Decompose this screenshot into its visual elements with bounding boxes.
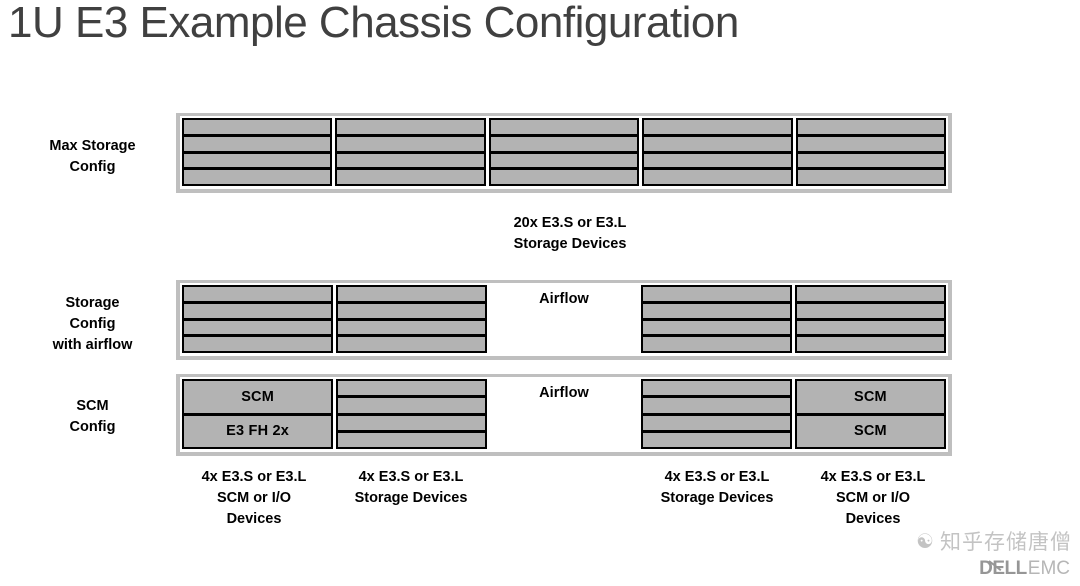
page-title: 1U E3 Example Chassis Configuration (8, 0, 739, 48)
device-slot[interactable] (798, 137, 944, 151)
caption-line1: 4x E3.S or E3.L (333, 467, 489, 488)
bay-group-1[interactable] (182, 285, 333, 353)
bottom-caption-3: 4x E3.S or E3.L Storage Devices (639, 467, 795, 509)
device-slot-scm[interactable]: SCM (797, 381, 944, 413)
caption-line3: Devices (176, 509, 332, 530)
device-slot[interactable] (338, 416, 485, 430)
bay-group-2[interactable] (336, 379, 487, 449)
device-slot[interactable] (184, 337, 331, 351)
device-slot[interactable] (798, 170, 944, 184)
device-slot[interactable] (338, 287, 485, 301)
device-slot[interactable] (337, 170, 483, 184)
device-slot[interactable] (643, 287, 790, 301)
row-label-storage-with-airflow: Storage Config with airflow (20, 293, 165, 356)
row-label-line2: Config (20, 157, 165, 178)
device-slot[interactable] (184, 170, 330, 184)
row-label-max-storage: Max Storage Config (20, 136, 165, 178)
bay-group-2[interactable] (335, 118, 485, 186)
device-slot[interactable] (644, 170, 790, 184)
chassis-inner: Airflow (180, 283, 948, 356)
device-slot[interactable] (643, 398, 790, 412)
device-slot[interactable] (797, 304, 944, 318)
bay-group-5[interactable] (795, 285, 946, 353)
device-slot[interactable] (798, 154, 944, 168)
device-slot[interactable] (184, 120, 330, 134)
caption-line1: 20x E3.S or E3.L (420, 213, 720, 234)
chassis-storage-with-airflow: Airflow (176, 280, 952, 360)
caption-line2: Storage Devices (333, 488, 489, 509)
chassis-inner (180, 116, 948, 189)
device-slot[interactable] (338, 433, 485, 447)
bottom-caption-4: 4x E3.S or E3.L SCM or I/O Devices (795, 467, 951, 530)
device-slot[interactable] (643, 337, 790, 351)
row-label-line2: Config (20, 314, 165, 335)
caption-line1: 4x E3.S or E3.L (639, 467, 795, 488)
device-slot[interactable] (491, 154, 637, 168)
caption-max-storage: 20x E3.S or E3.L Storage Devices (420, 213, 720, 255)
airflow-label: Airflow (539, 291, 589, 307)
device-slot[interactable] (337, 137, 483, 151)
row-label-line1: Max Storage (20, 136, 165, 157)
caption-line2: Storage Devices (639, 488, 795, 509)
row-label-line3: with airflow (20, 335, 165, 356)
airflow-region: Airflow (490, 379, 637, 449)
device-slot[interactable] (644, 154, 790, 168)
bay-group-4[interactable] (641, 379, 792, 449)
device-slot[interactable] (184, 321, 331, 335)
device-slot[interactable] (338, 321, 485, 335)
chassis-inner: SCM E3 FH 2x Airflow SCM SCM (180, 377, 948, 452)
bay-group-1[interactable] (182, 118, 332, 186)
chassis-max-storage (176, 113, 952, 193)
device-slot[interactable] (184, 137, 330, 151)
device-slot[interactable] (643, 381, 790, 395)
device-slot[interactable] (338, 398, 485, 412)
bottom-caption-1: 4x E3.S or E3.L SCM or I/O Devices (176, 467, 332, 530)
caption-line1: 4x E3.S or E3.L (176, 467, 332, 488)
dell-wordmark: DELL (979, 558, 1027, 580)
device-slot[interactable] (643, 416, 790, 430)
device-slot-e3-fh[interactable]: E3 FH 2x (184, 416, 331, 448)
row-label-line1: SCM (20, 396, 165, 417)
caption-line2: SCM or I/O (795, 488, 951, 509)
device-slot[interactable] (491, 120, 637, 134)
device-slot[interactable] (491, 137, 637, 151)
device-slot[interactable] (491, 170, 637, 184)
device-slot[interactable] (643, 321, 790, 335)
chassis-scm-config: SCM E3 FH 2x Airflow SCM SCM (176, 374, 952, 456)
device-slot[interactable] (184, 287, 331, 301)
bay-group-4[interactable] (641, 285, 792, 353)
device-slot-scm[interactable]: SCM (184, 381, 331, 413)
dell-text: DELL (979, 558, 1027, 579)
wechat-watermark: ☯ 知乎存储唐僧 (916, 526, 1072, 556)
device-slot[interactable] (797, 287, 944, 301)
device-slot[interactable] (337, 154, 483, 168)
device-slot[interactable] (798, 120, 944, 134)
bay-group-1[interactable]: SCM E3 FH 2x (182, 379, 333, 449)
device-slot[interactable] (643, 304, 790, 318)
bay-group-2[interactable] (336, 285, 487, 353)
caption-line2: Storage Devices (420, 234, 720, 255)
airflow-label: Airflow (539, 385, 589, 401)
device-slot[interactable] (643, 433, 790, 447)
bottom-caption-2: 4x E3.S or E3.L Storage Devices (333, 467, 489, 509)
device-slot[interactable] (644, 120, 790, 134)
device-slot[interactable] (338, 304, 485, 318)
row-label-line2: Config (20, 417, 165, 438)
device-slot[interactable] (797, 337, 944, 351)
device-slot[interactable] (338, 337, 485, 351)
caption-line1: 4x E3.S or E3.L (795, 467, 951, 488)
bay-group-5[interactable] (796, 118, 946, 186)
emc-wordmark: EMC (1028, 558, 1070, 580)
device-slot[interactable] (644, 137, 790, 151)
device-slot-scm[interactable]: SCM (797, 416, 944, 448)
row-label-scm-config: SCM Config (20, 396, 165, 438)
dell-emc-logo: DELL EMC (979, 558, 1070, 580)
bay-group-3[interactable] (489, 118, 639, 186)
device-slot[interactable] (184, 304, 331, 318)
caption-line2: SCM or I/O (176, 488, 332, 509)
airflow-region: Airflow (490, 285, 637, 353)
bay-group-5[interactable]: SCM SCM (795, 379, 946, 449)
device-slot[interactable] (797, 321, 944, 335)
row-label-line1: Storage (20, 293, 165, 314)
device-slot[interactable] (338, 381, 485, 395)
device-slot[interactable] (184, 154, 330, 168)
watermark-text: 知乎存储唐僧 (940, 526, 1072, 556)
bay-group-4[interactable] (642, 118, 792, 186)
wechat-icon: ☯ (916, 531, 935, 551)
device-slot[interactable] (337, 120, 483, 134)
